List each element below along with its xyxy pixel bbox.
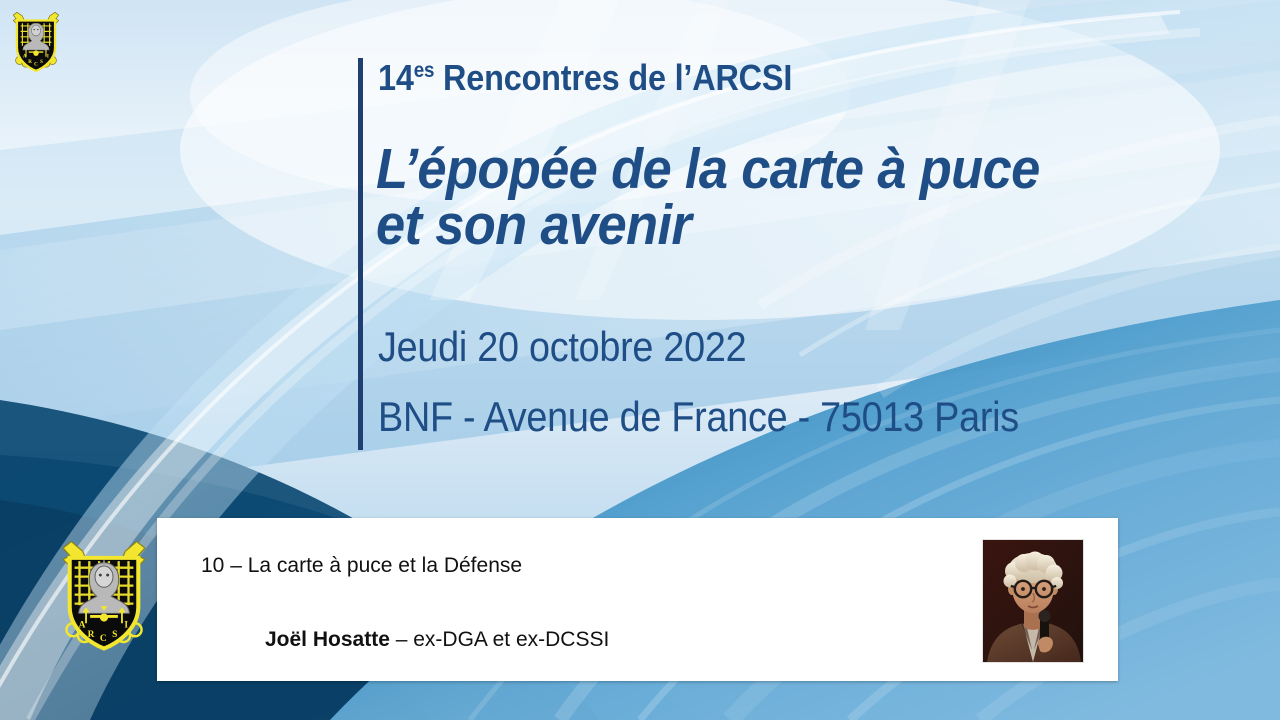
event-kicker-number: 14 xyxy=(378,57,414,98)
event-date: Jeudi 20 octobre 2022 xyxy=(378,326,1116,368)
svg-text:S: S xyxy=(112,630,117,640)
svg-text:A: A xyxy=(79,620,86,630)
title-accent-rule xyxy=(358,58,363,450)
arcsi-crest-icon-footer: A R C S I xyxy=(55,528,153,658)
talk-info-card: 10 – La carte à puce et la Défense Joël … xyxy=(157,518,1118,681)
talk-title-line: 10 – La carte à puce et la Défense xyxy=(201,554,522,578)
arcsi-crest-icon-header: A R C S I xyxy=(8,6,64,74)
event-kicker: 14es Rencontres de l’ARCSI xyxy=(378,59,1062,97)
svg-text:R: R xyxy=(28,60,32,65)
presentation-slide: A R C S I 14es Rencontres de l’ARCSI L’é… xyxy=(0,0,1280,720)
speaker-name: Joël Hosatte xyxy=(265,628,390,651)
svg-text:C: C xyxy=(34,62,38,67)
event-title-line1: L’épopée de la carte à puce xyxy=(376,137,1040,201)
event-title-line2: et son avenir xyxy=(376,198,1130,254)
speaker-separator: – xyxy=(390,628,413,651)
event-kicker-ordinal: es xyxy=(414,59,435,82)
event-venue: BNF - Avenue de France - 75013 Paris xyxy=(378,396,1188,438)
svg-text:R: R xyxy=(88,630,95,640)
speaker-portrait-photo xyxy=(983,540,1083,662)
svg-text:I: I xyxy=(47,55,49,60)
svg-text:A: A xyxy=(23,55,27,60)
event-kicker-rest: Rencontres de l’ARCSI xyxy=(434,57,792,98)
svg-text:I: I xyxy=(124,620,128,630)
svg-text:S: S xyxy=(40,60,43,65)
event-title: L’épopée de la carte à puce et son aveni… xyxy=(376,142,1130,254)
speaker-line: Joël Hosatte – ex-DGA et ex-DCSSI xyxy=(265,628,609,652)
svg-text:C: C xyxy=(100,634,107,644)
speaker-affiliation: ex-DGA et ex-DCSSI xyxy=(413,628,609,651)
